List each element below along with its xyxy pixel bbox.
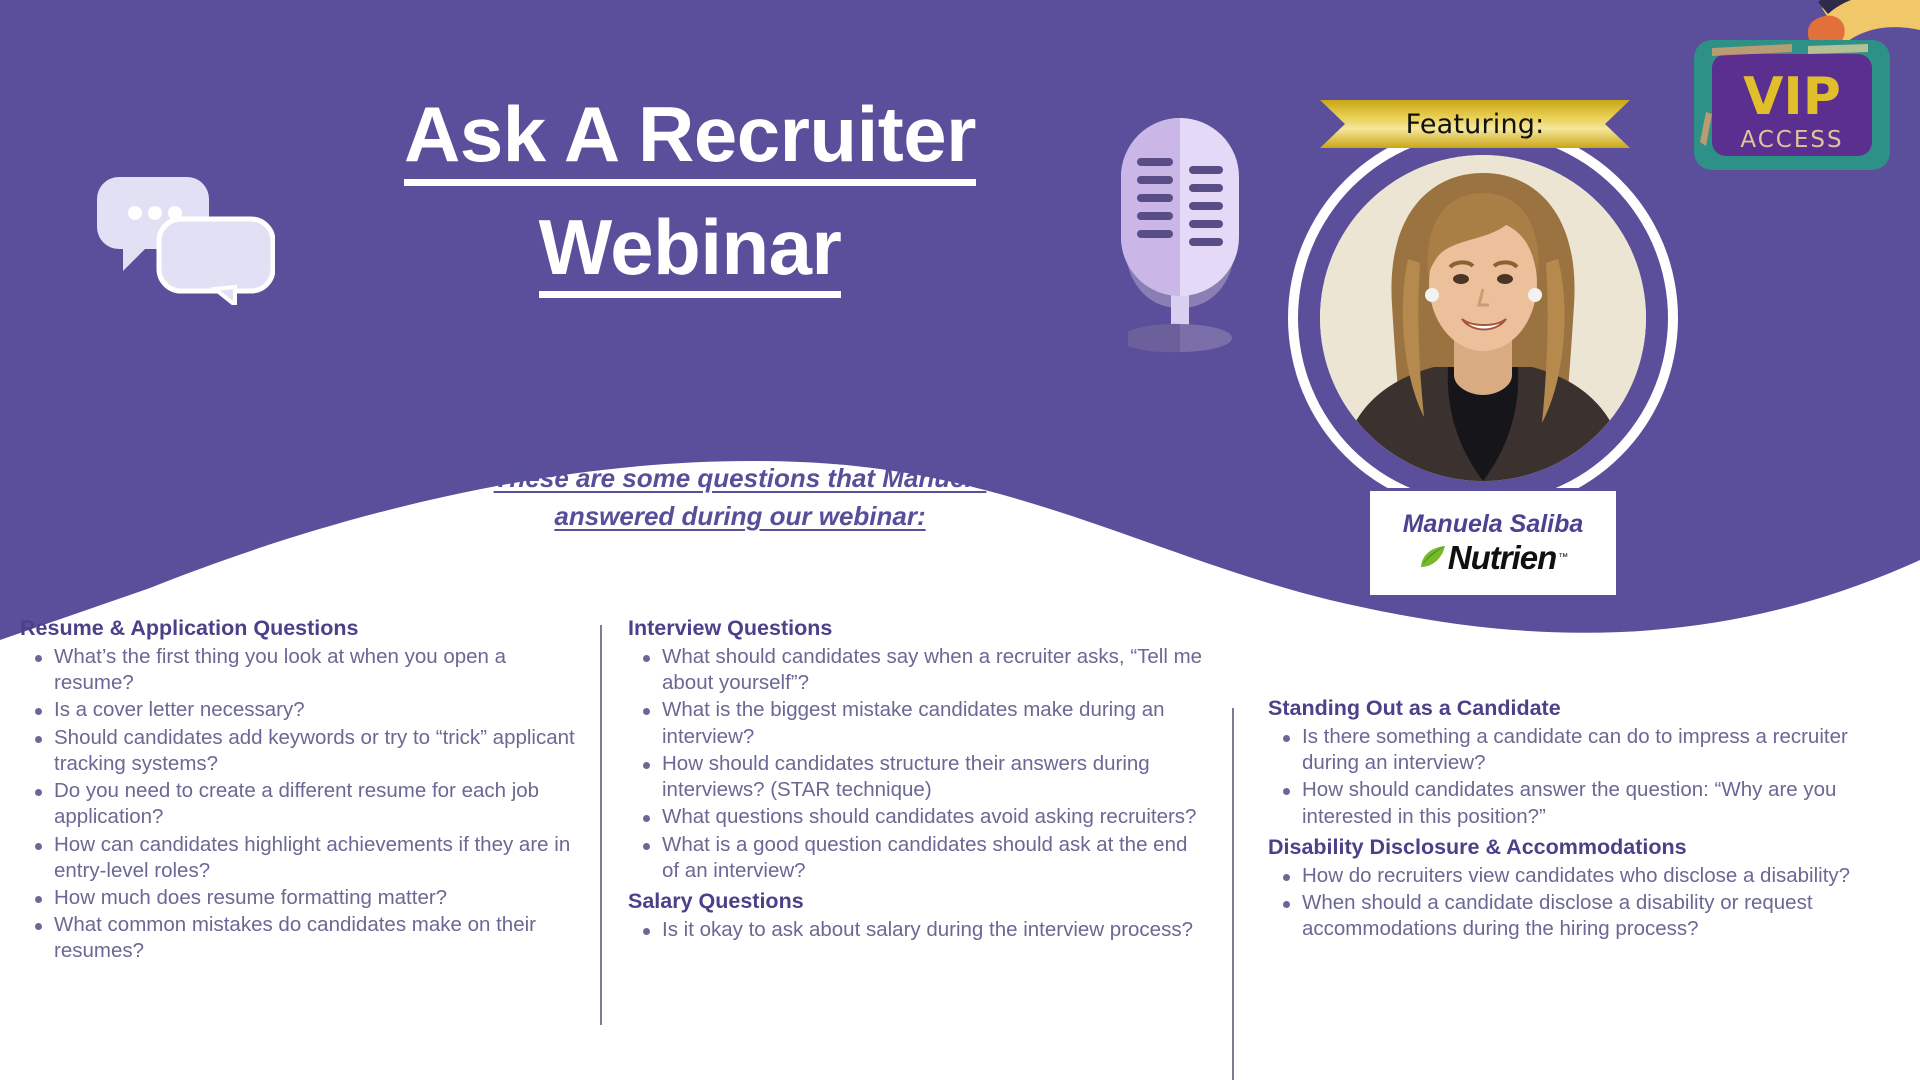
featuring-ribbon: Featuring: bbox=[1320, 100, 1630, 148]
list-item: How should candidates answer the questio… bbox=[1302, 777, 1908, 829]
list-item: How can candidates highlight achievement… bbox=[54, 832, 580, 884]
question-list: What’s the first thing you look at when … bbox=[20, 644, 580, 965]
list-item: Do you need to create a different resume… bbox=[54, 778, 580, 830]
list-item: When should a candidate disclose a disab… bbox=[1302, 890, 1908, 942]
list-item: What’s the first thing you look at when … bbox=[54, 644, 580, 696]
list-item: What is the biggest mistake candidates m… bbox=[662, 697, 1203, 749]
question-list: How do recruiters view candidates who di… bbox=[1268, 863, 1908, 943]
portrait-inner-ring bbox=[1298, 133, 1668, 503]
list-item: How should candidates structure their an… bbox=[662, 751, 1203, 803]
list-item: Should candidates add keywords or try to… bbox=[54, 725, 580, 777]
subtitle-line-2: answered during our webinar: bbox=[554, 501, 925, 531]
chat-bubbles-icon bbox=[95, 175, 275, 305]
section-heading: Standing Out as a Candidate bbox=[1268, 695, 1908, 722]
svg-text:VIP: VIP bbox=[1743, 67, 1841, 127]
column-divider-1 bbox=[600, 625, 602, 1025]
company-name: Nutrien bbox=[1448, 541, 1557, 574]
speaker-portrait bbox=[1288, 123, 1678, 513]
section-heading: Resume & Application Questions bbox=[20, 615, 580, 642]
section-heading: Salary Questions bbox=[628, 888, 1203, 915]
question-section: Resume & Application QuestionsWhat’s the… bbox=[20, 615, 580, 965]
poster-canvas: Ask A Recruiter Webinar Featuring: bbox=[0, 0, 1920, 1080]
question-list: Is it okay to ask about salary during th… bbox=[628, 917, 1203, 943]
title-line-2: Webinar bbox=[539, 208, 842, 299]
list-item: Is it okay to ask about salary during th… bbox=[662, 917, 1203, 943]
list-item: What should candidates say when a recrui… bbox=[662, 644, 1203, 696]
question-list: What should candidates say when a recrui… bbox=[628, 644, 1203, 884]
list-item: What is a good question candidates shoul… bbox=[662, 832, 1203, 884]
question-section: Standing Out as a CandidateIs there some… bbox=[1268, 695, 1908, 830]
section-heading: Interview Questions bbox=[628, 615, 1203, 642]
vip-access-badge-icon: VIP ACCESS bbox=[1672, 0, 1920, 202]
list-item: What common mistakes do candidates make … bbox=[54, 912, 580, 964]
question-columns: Resume & Application QuestionsWhat’s the… bbox=[0, 600, 1920, 1080]
featuring-label: Featuring: bbox=[1320, 100, 1630, 148]
list-item: How much does resume formatting matter? bbox=[54, 885, 580, 911]
list-item: How do recruiters view candidates who di… bbox=[1302, 863, 1908, 889]
subtitle: These are some questions that Manuela an… bbox=[430, 460, 1050, 535]
subtitle-line-1: These are some questions that Manuela bbox=[494, 463, 987, 493]
question-section: Salary QuestionsIs it okay to ask about … bbox=[628, 888, 1203, 943]
question-section: Disability Disclosure & AccommodationsHo… bbox=[1268, 834, 1908, 943]
section-heading: Disability Disclosure & Accommodations bbox=[1268, 834, 1908, 861]
list-item: Is a cover letter necessary? bbox=[54, 697, 580, 723]
company-logo: Nutrien ™ bbox=[1418, 541, 1569, 574]
question-section: Interview QuestionsWhat should candidate… bbox=[628, 615, 1203, 884]
column-1: Resume & Application QuestionsWhat’s the… bbox=[20, 615, 580, 969]
speaker-nameplate: Manuela Saliba Nutrien ™ bbox=[1367, 488, 1619, 598]
svg-text:ACCESS: ACCESS bbox=[1740, 127, 1843, 153]
retro-microphone-icon bbox=[1085, 110, 1275, 360]
nutrien-leaf-icon bbox=[1418, 543, 1448, 573]
question-list: Is there something a candidate can do to… bbox=[1268, 724, 1908, 830]
column-2: Interview QuestionsWhat should candidate… bbox=[628, 615, 1203, 947]
speaker-name: Manuela Saliba bbox=[1403, 512, 1584, 537]
list-item: What questions should candidates avoid a… bbox=[662, 804, 1203, 830]
list-item: Is there something a candidate can do to… bbox=[1302, 724, 1908, 776]
title-line-1: Ask A Recruiter bbox=[404, 95, 976, 186]
trademark-symbol: ™ bbox=[1558, 552, 1568, 563]
avatar bbox=[1320, 155, 1646, 481]
column-3: Standing Out as a CandidateIs there some… bbox=[1268, 695, 1908, 946]
page-title: Ask A Recruiter Webinar bbox=[300, 95, 1080, 298]
column-divider-2 bbox=[1232, 708, 1234, 1080]
